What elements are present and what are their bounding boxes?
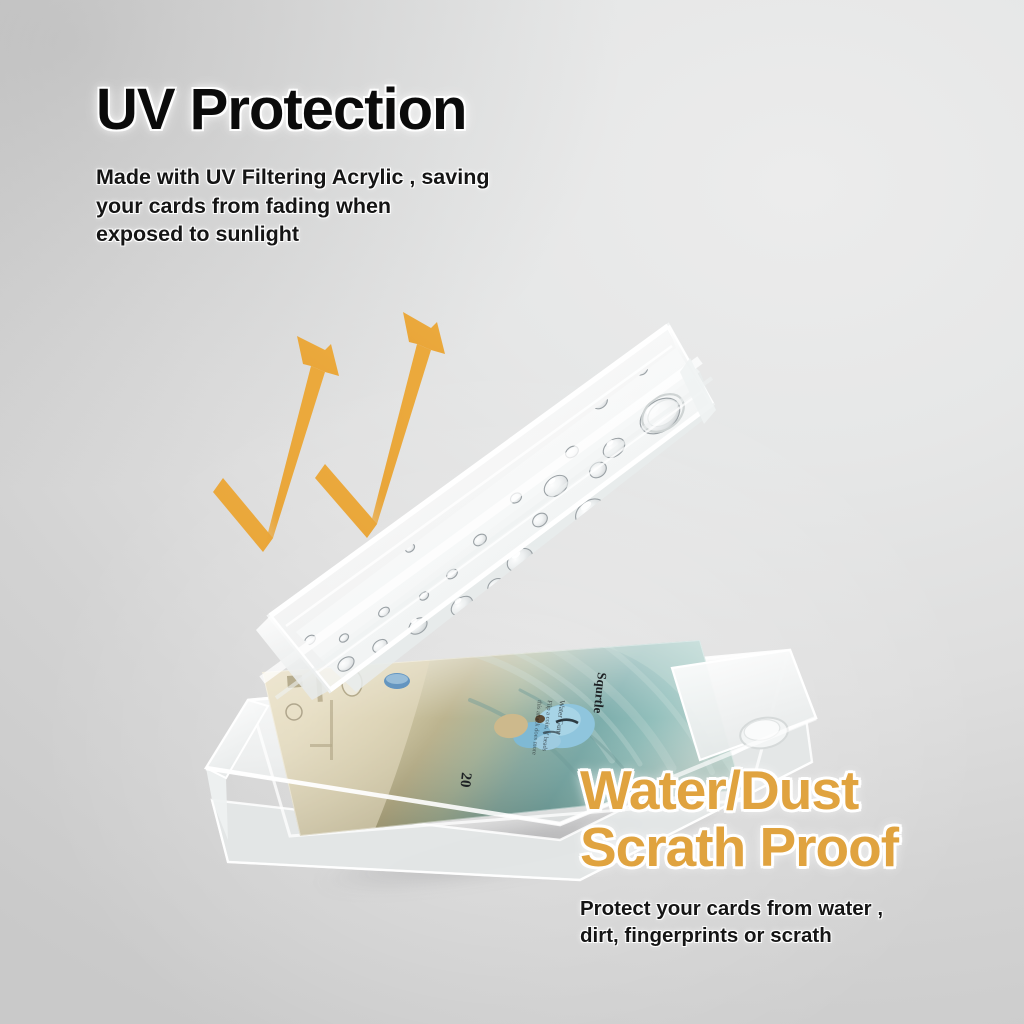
uv-body-line-2: your cards from fading when [96,192,616,220]
uv-protection-feature: UV Protection Made with UV Filtering Acr… [96,80,616,248]
card-damage: 20 [456,772,473,789]
uv-body: Made with UV Filtering Acrylic , saving … [96,163,616,248]
uv-body-line-3: exposed to sunlight [96,220,616,248]
water-body-line-2: dirt, fingerprints or scrath [580,922,1000,949]
uv-deflection-arrows [205,300,505,560]
water-body-line-1: Protect your cards from water , [580,895,1000,922]
uv-body-line-1: Made with UV Filtering Acrylic , saving [96,163,616,191]
product-image-canvas: Squrtle Water Gun Flip a coin, if heads … [0,0,1024,1024]
arrow-right [315,312,445,538]
water-heading-line-2: Scrath Proof [580,819,1000,876]
water-heading-line-1: Water/Dust [580,762,1000,819]
water-heading: Water/Dust Scrath Proof [580,762,1000,875]
uv-heading: UV Protection [96,80,616,139]
arrow-left [213,336,339,552]
water-dust-feature: Water/Dust Scrath Proof Protect your car… [580,762,1000,949]
water-body: Protect your cards from water , dirt, fi… [580,895,1000,949]
